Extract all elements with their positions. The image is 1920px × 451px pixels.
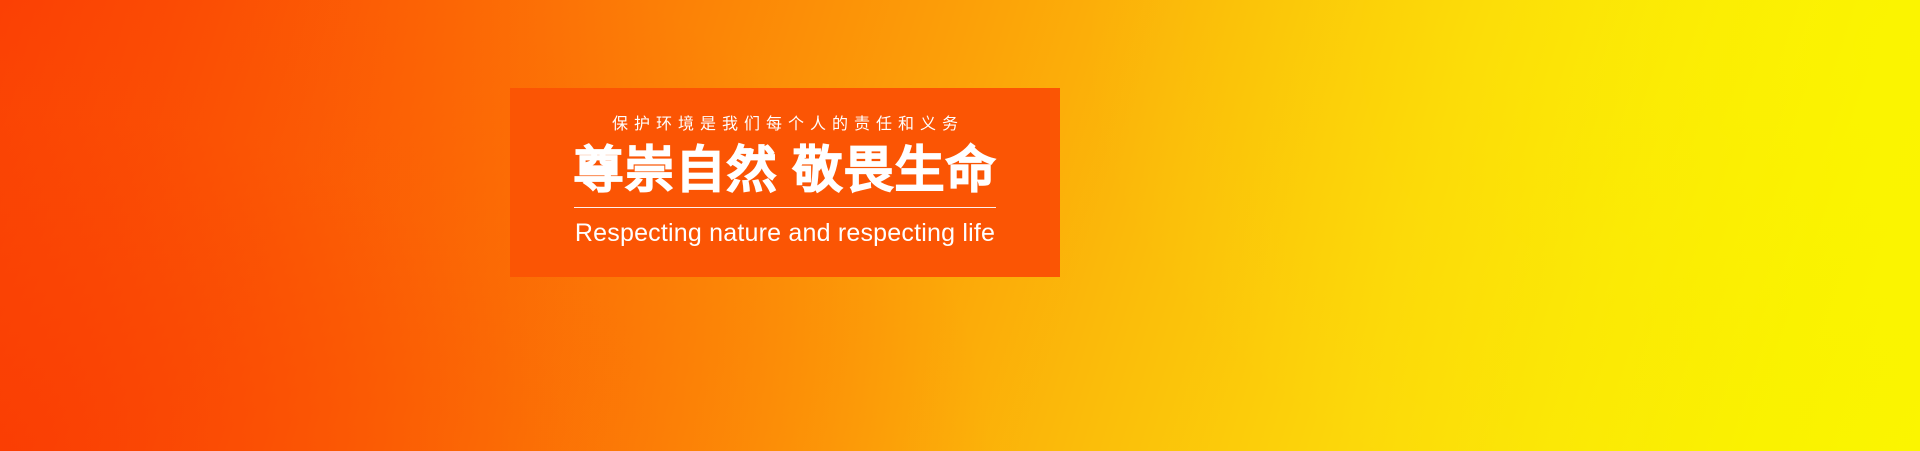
message-panel-content: 保护环境是我们每个人的责任和义务 尊崇自然 敬畏生命 Respecting na… (538, 117, 1032, 248)
headline-slogan: 尊崇自然 敬畏生命 (574, 143, 997, 197)
subtitle-english: Respecting nature and respecting life (575, 220, 995, 248)
eyebrow-slogan: 保护环境是我们每个人的责任和义务 (606, 117, 964, 133)
message-panel: 保护环境是我们每个人的责任和义务 尊崇自然 敬畏生命 Respecting na… (510, 88, 1060, 277)
headline-divider (574, 207, 996, 208)
environmental-banner: 保护环境是我们每个人的责任和义务 尊崇自然 敬畏生命 Respecting na… (0, 0, 1920, 451)
